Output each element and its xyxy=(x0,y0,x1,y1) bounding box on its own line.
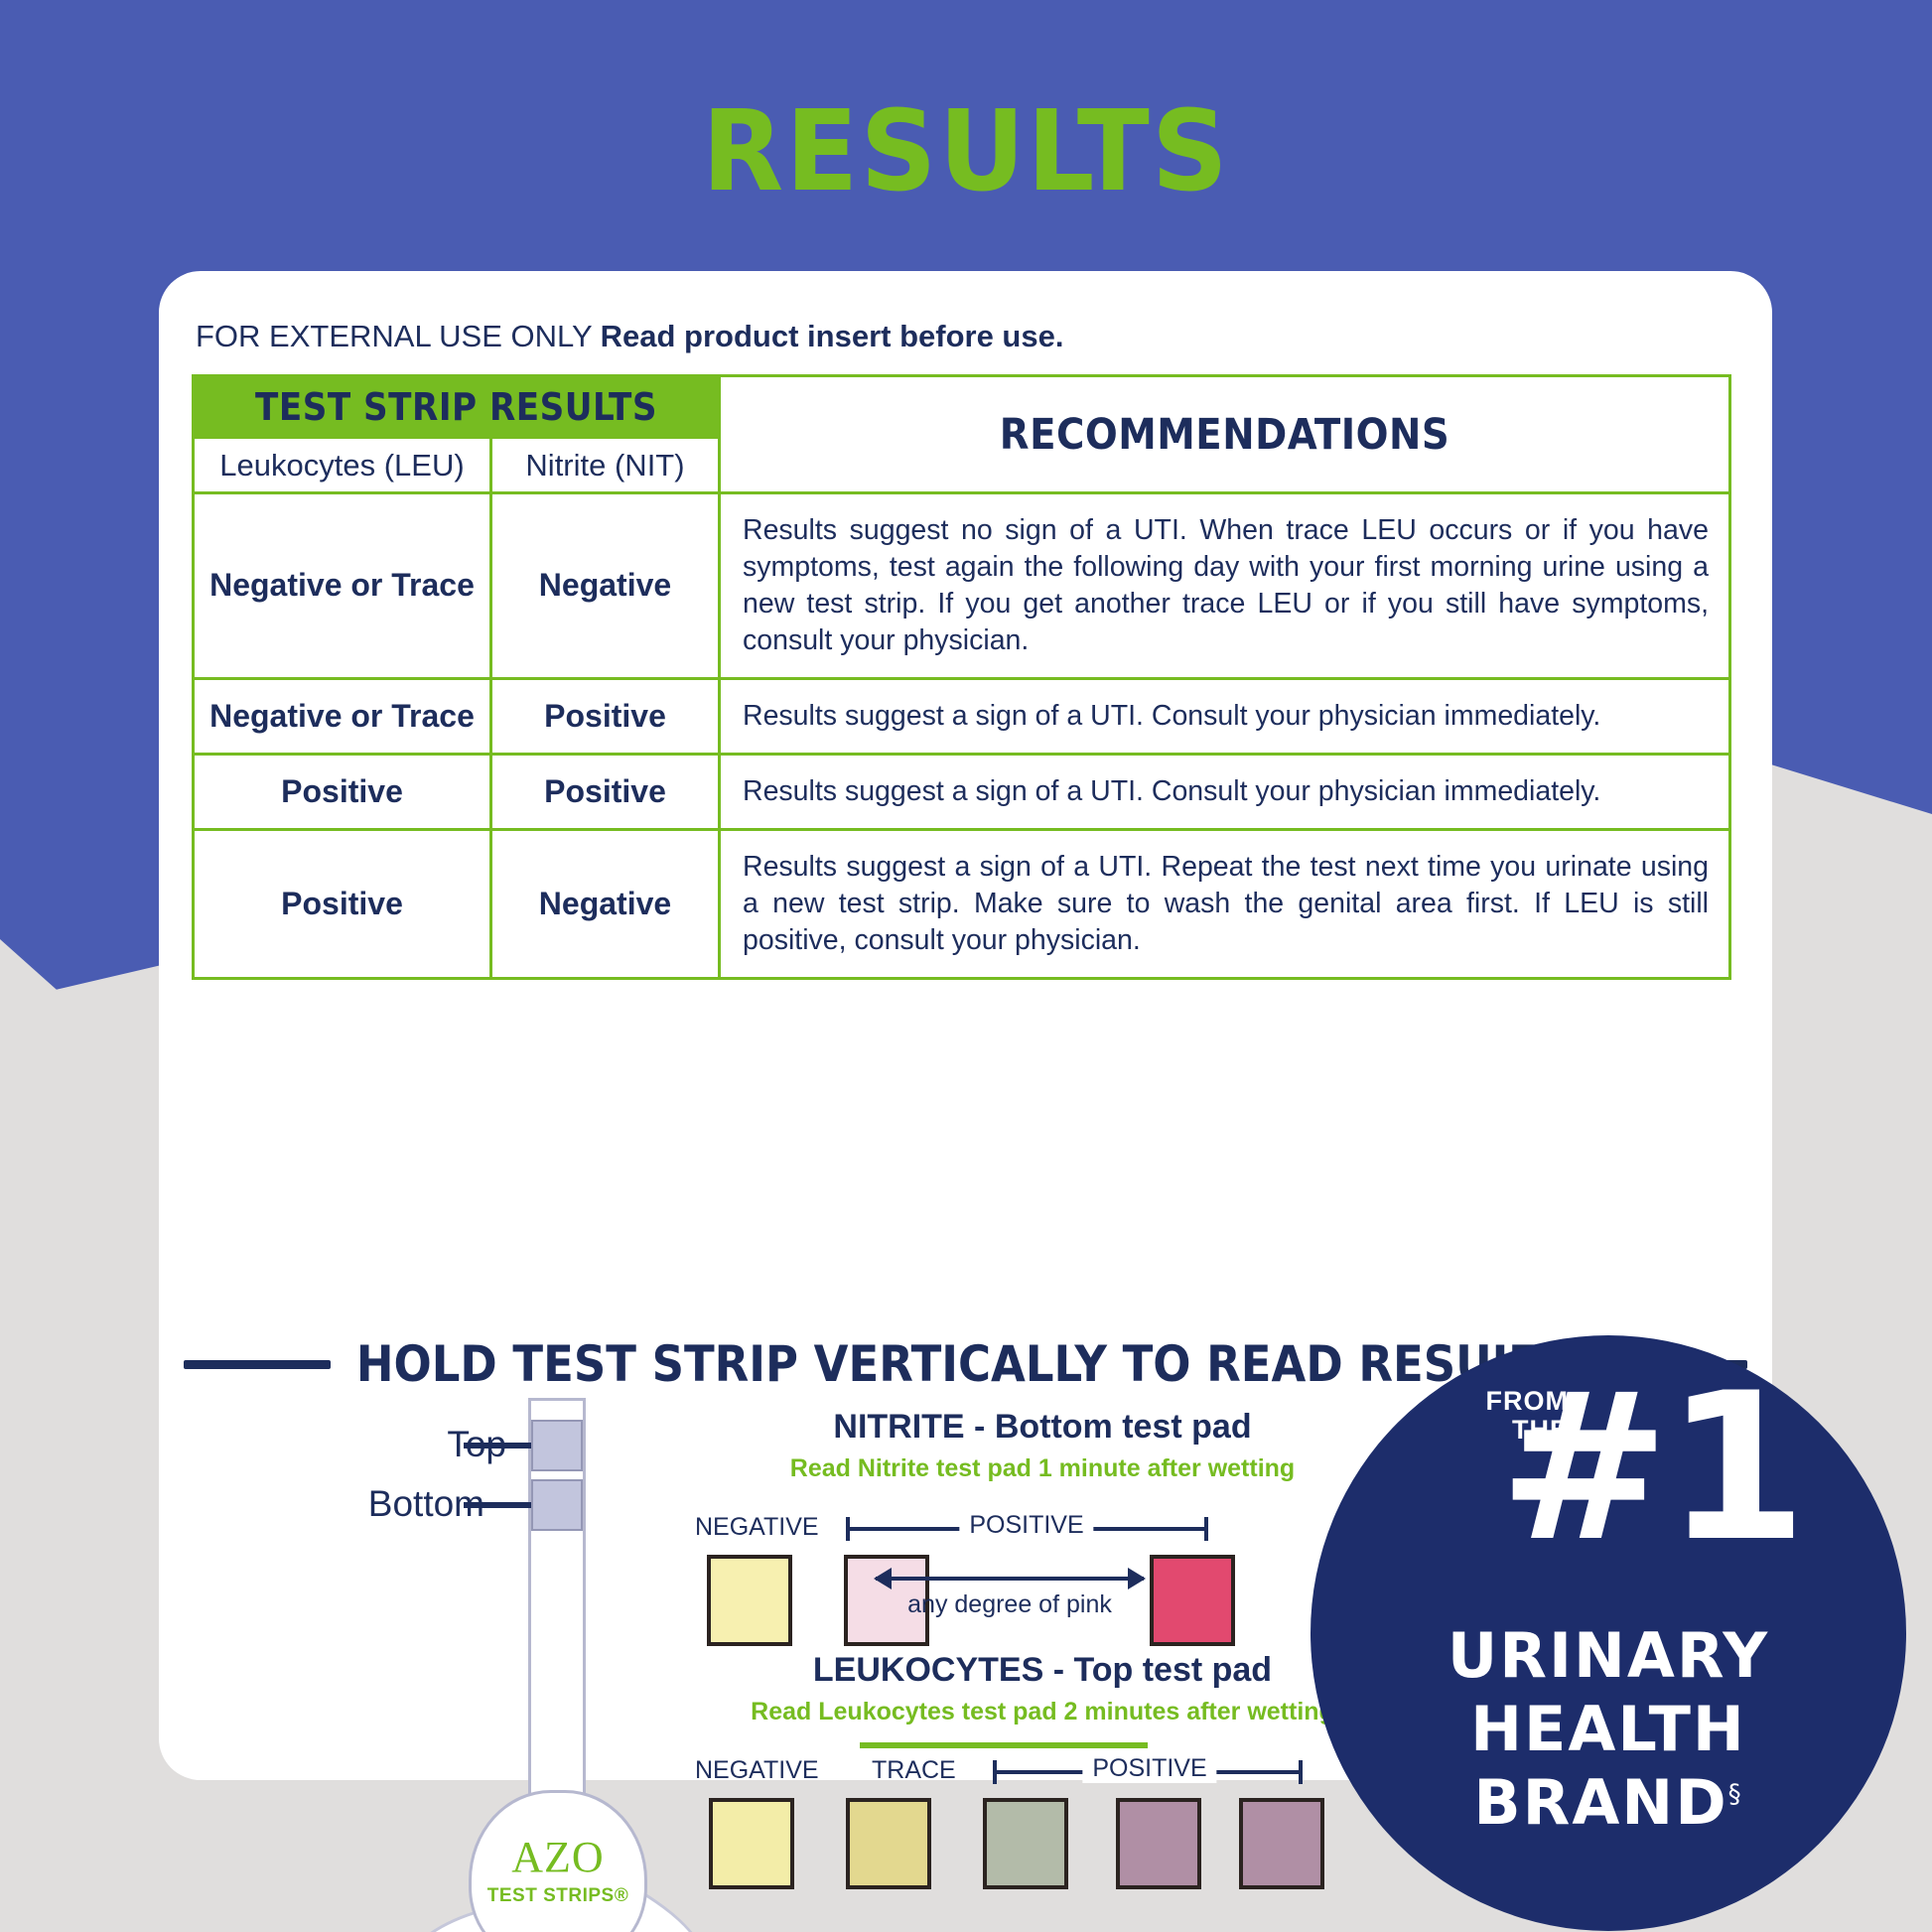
leukocytes-scale-labels: NEGATIVE TRACE POSITIVE xyxy=(695,1752,1390,1792)
nitrite-title-bold: NITRITE xyxy=(833,1408,964,1446)
test-strip-diagram: Top Bottom AZO TEST STRIPS® xyxy=(357,1398,685,1932)
results-table: TEST STRIP RESULTS RECOMMENDATIONS Leuko… xyxy=(192,374,1731,980)
nitrite-swatch-negative xyxy=(707,1555,792,1646)
nitrite-label-negative: NEGATIVE xyxy=(695,1513,819,1542)
nitrite-subtitle: Read Nitrite test pad 1 minute after wet… xyxy=(695,1454,1390,1483)
nitrite-arrow-text: any degree of pink xyxy=(876,1590,1144,1619)
nitrite-swatch-positive-dark xyxy=(1150,1555,1235,1646)
cell-nit-value: Positive xyxy=(491,679,720,755)
azo-brand-sub: TEST STRIPS® xyxy=(469,1885,647,1907)
nitrite-swatch-row: any degree of pink xyxy=(695,1555,1390,1652)
table-row: Positive Positive Results suggest a sign… xyxy=(194,755,1730,830)
badge-footnote-marker: § xyxy=(1728,1779,1743,1809)
cell-recommendation: Results suggest a sign of a UTI. Consult… xyxy=(720,755,1730,830)
leukocytes-swatch-positive-1 xyxy=(983,1798,1068,1889)
nitrite-panel: NITRITE - Bottom test pad Read Nitrite t… xyxy=(695,1408,1390,1652)
legal-notice: FOR EXTERNAL USE ONLYRead product insert… xyxy=(196,319,1063,354)
column-header-nitrite: Nitrite (NIT) xyxy=(491,438,720,493)
page-title: RESULTS xyxy=(0,87,1932,216)
leukocytes-subtitle: Read Leukocytes test pad 2 minutes after… xyxy=(695,1698,1390,1726)
nitrite-positive-brace: POSITIVE xyxy=(846,1527,1208,1531)
cell-recommendation: Results suggest no sign of a UTI. When t… xyxy=(720,493,1730,679)
badge-line-urinary: URINARY xyxy=(1311,1619,1906,1692)
cell-recommendation: Results suggest a sign of a UTI. Consult… xyxy=(720,679,1730,755)
azo-bottle-logo: AZO TEST STRIPS® xyxy=(469,1790,647,1932)
label-bottom: Bottom xyxy=(336,1483,484,1525)
double-arrow-icon xyxy=(876,1577,1144,1581)
leukocytes-panel: LEUKOCYTES - Top test pad Read Leukocyte… xyxy=(695,1651,1390,1895)
nitrite-scale-labels: NEGATIVE POSITIVE xyxy=(695,1509,1390,1549)
nitrite-title-rest: - Bottom test pad xyxy=(965,1408,1252,1446)
cell-leu-value: Positive xyxy=(194,830,491,979)
leader-line-bottom-icon xyxy=(464,1502,531,1508)
nitrite-label-positive: POSITIVE xyxy=(959,1511,1093,1540)
cell-leu-value: Negative or Trace xyxy=(194,493,491,679)
nitrite-gradient-note: any degree of pink xyxy=(876,1577,1144,1619)
table-row: Negative or Trace Positive Results sugge… xyxy=(194,679,1730,755)
badge-brand-text: BRAND xyxy=(1473,1766,1727,1839)
badge-line-brand: BRAND§ xyxy=(1311,1766,1906,1839)
legal-plain-text: FOR EXTERNAL USE ONLY xyxy=(196,319,593,353)
table-row: Negative or Trace Negative Results sugge… xyxy=(194,493,1730,679)
table-header-row: TEST STRIP RESULTS RECOMMENDATIONS xyxy=(194,376,1730,438)
leukocytes-swatch-trace xyxy=(846,1798,931,1889)
leukocytes-title-bold: LEUKOCYTES xyxy=(813,1651,1043,1689)
leader-line-top-icon xyxy=(464,1443,531,1449)
header-recommendations: RECOMMENDATIONS xyxy=(720,376,1730,493)
cell-nit-value: Positive xyxy=(491,755,720,830)
leukocytes-label-trace: TRACE xyxy=(872,1756,956,1785)
leukocytes-label-positive: POSITIVE xyxy=(1082,1754,1216,1783)
cell-recommendation: Results suggest a sign of a UTI. Repeat … xyxy=(720,830,1730,979)
leukocytes-title-rest: - Top test pad xyxy=(1043,1651,1272,1689)
badge-number: #1 xyxy=(1311,1367,1906,1571)
table-row: Positive Negative Results suggest a sign… xyxy=(194,830,1730,979)
leukocytes-label-negative: NEGATIVE xyxy=(695,1756,819,1785)
header-test-strip-results: TEST STRIP RESULTS xyxy=(194,376,720,438)
number-one-brand-badge: FROM THE #1 URINARY HEALTH BRAND§ xyxy=(1311,1335,1906,1931)
cell-nit-value: Negative xyxy=(491,830,720,979)
bottom-test-pad-icon xyxy=(531,1479,583,1531)
cell-nit-value: Negative xyxy=(491,493,720,679)
azo-brand-name: AZO xyxy=(469,1832,647,1882)
column-header-leukocytes: Leukocytes (LEU) xyxy=(194,438,491,493)
rule-left-icon xyxy=(184,1360,331,1369)
leukocytes-title: LEUKOCYTES - Top test pad xyxy=(695,1651,1390,1690)
leukocytes-swatch-negative xyxy=(709,1798,794,1889)
cell-leu-value: Negative or Trace xyxy=(194,679,491,755)
leukocytes-positive-brace: POSITIVE xyxy=(993,1770,1303,1774)
leukocytes-swatch-positive-2 xyxy=(1116,1798,1201,1889)
top-test-pad-icon xyxy=(531,1420,583,1471)
cell-leu-value: Positive xyxy=(194,755,491,830)
poster-stage: RESULTS FOR EXTERNAL USE ONLYRead produc… xyxy=(0,0,1932,1932)
badge-line-health: HEALTH xyxy=(1311,1693,1906,1765)
leukocytes-swatch-row xyxy=(695,1798,1390,1895)
legal-bold-text: Read product insert before use. xyxy=(601,319,1064,353)
nitrite-title: NITRITE - Bottom test pad xyxy=(695,1408,1390,1447)
